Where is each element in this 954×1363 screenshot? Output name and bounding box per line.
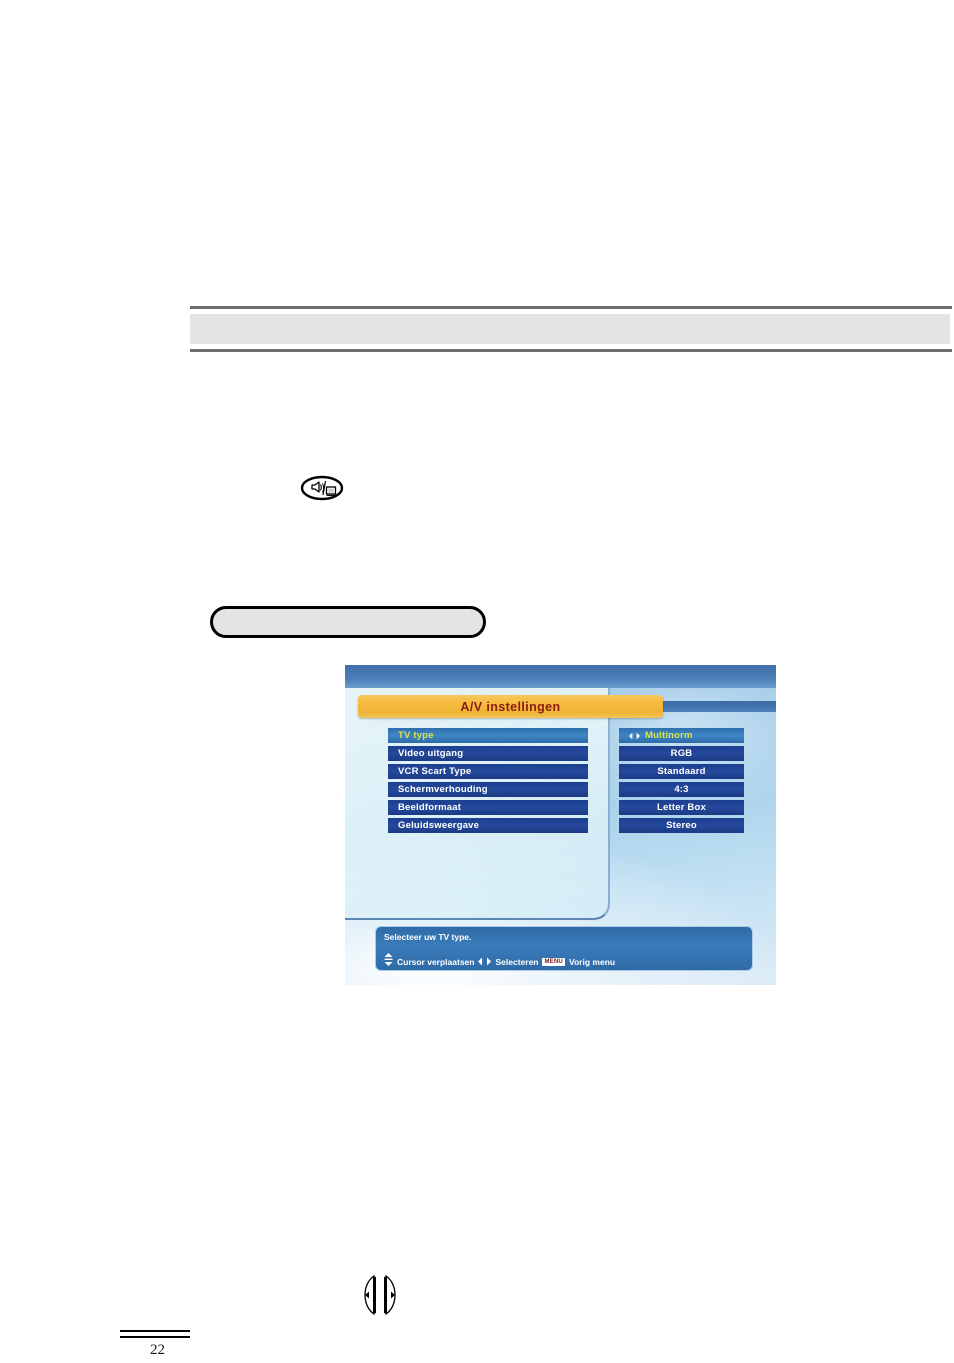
- osd-help-keys: Cursor verplaatsen Selecteren MENU Vorig…: [384, 953, 744, 971]
- osd-help-panel: Selecteer uw TV type. Cursor verplaatsen…: [375, 926, 753, 971]
- osd-menu-item-1[interactable]: Video uitgang: [388, 746, 588, 761]
- osd-menu-value-5[interactable]: Stereo: [619, 818, 744, 833]
- osd-screenshot: A/V instellingen TV typeVideo uitgangVCR…: [345, 665, 776, 985]
- left-arrow-key-icon: [356, 1274, 378, 1316]
- osd-menu-value-1[interactable]: RGB: [619, 746, 744, 761]
- left-right-arrows-icon: [478, 953, 491, 971]
- osd-menu-value-3[interactable]: 4:3: [619, 782, 744, 797]
- osd-menu-item-label: Video uitgang: [398, 748, 463, 759]
- osd-menu-value-label: 4:3: [674, 784, 688, 795]
- header-band-text: [190, 314, 950, 326]
- osd-menu-value-label: Multinorm: [645, 730, 693, 741]
- osd-help-back-label: Vorig menu: [569, 957, 615, 967]
- osd-menu-item-label: Beeldformaat: [398, 802, 461, 813]
- av-tv-key-icon: [300, 475, 344, 501]
- osd-menu-value-2[interactable]: Standaard: [619, 764, 744, 779]
- osd-menu-value-label: Standaard: [657, 766, 705, 777]
- osd-help-move-label: Cursor verplaatsen: [397, 957, 474, 967]
- up-down-arrows-icon: [384, 953, 393, 971]
- osd-top-strip: [345, 665, 776, 688]
- osd-menu-item-3[interactable]: Schermverhouding: [388, 782, 588, 797]
- osd-menu-item-label: VCR Scart Type: [398, 766, 471, 777]
- callout-text: [213, 609, 483, 619]
- header-rule-top: [190, 306, 952, 309]
- osd-menu-item-4[interactable]: Beeldformaat: [388, 800, 588, 815]
- osd-menu-value-label: RGB: [671, 748, 693, 759]
- osd-menu-labels: TV typeVideo uitgangVCR Scart TypeScherm…: [388, 728, 588, 836]
- osd-help-select-label: Selecteren: [495, 957, 538, 967]
- osd-menu-values: MultinormRGBStandaard4:3Letter BoxStereo: [619, 728, 744, 836]
- osd-help-hint: Selecteer uw TV type.: [384, 932, 744, 942]
- callout-box: [210, 606, 486, 638]
- osd-menu-value-label: Letter Box: [657, 802, 706, 813]
- right-arrow-key-icon: [382, 1274, 404, 1316]
- footer-rule-lower: [120, 1336, 190, 1338]
- osd-menu-item-2[interactable]: VCR Scart Type: [388, 764, 588, 779]
- left-right-arrows-icon: [629, 732, 640, 740]
- header-rule-bottom: [190, 349, 952, 352]
- osd-menu-item-5[interactable]: Geluidsweergave: [388, 818, 588, 833]
- header-band: [190, 314, 950, 344]
- osd-menu-item-label: Schermverhouding: [398, 784, 488, 795]
- osd-title-bar: A/V instellingen: [358, 695, 663, 718]
- osd-title-text: A/V instellingen: [460, 700, 560, 714]
- menu-key-badge: MENU: [542, 958, 564, 966]
- osd-menu-value-label: Stereo: [666, 820, 697, 831]
- footer-rule-upper: [120, 1330, 190, 1332]
- osd-menu-value-0[interactable]: Multinorm: [619, 728, 744, 743]
- osd-menu-value-4[interactable]: Letter Box: [619, 800, 744, 815]
- osd-menu-item-label: Geluidsweergave: [398, 820, 479, 831]
- osd-menu-item-label: TV type: [398, 730, 434, 741]
- osd-menu-item-0[interactable]: TV type: [388, 728, 588, 743]
- arrow-keys-illustration: [356, 1274, 404, 1316]
- page-number: 22: [150, 1342, 165, 1359]
